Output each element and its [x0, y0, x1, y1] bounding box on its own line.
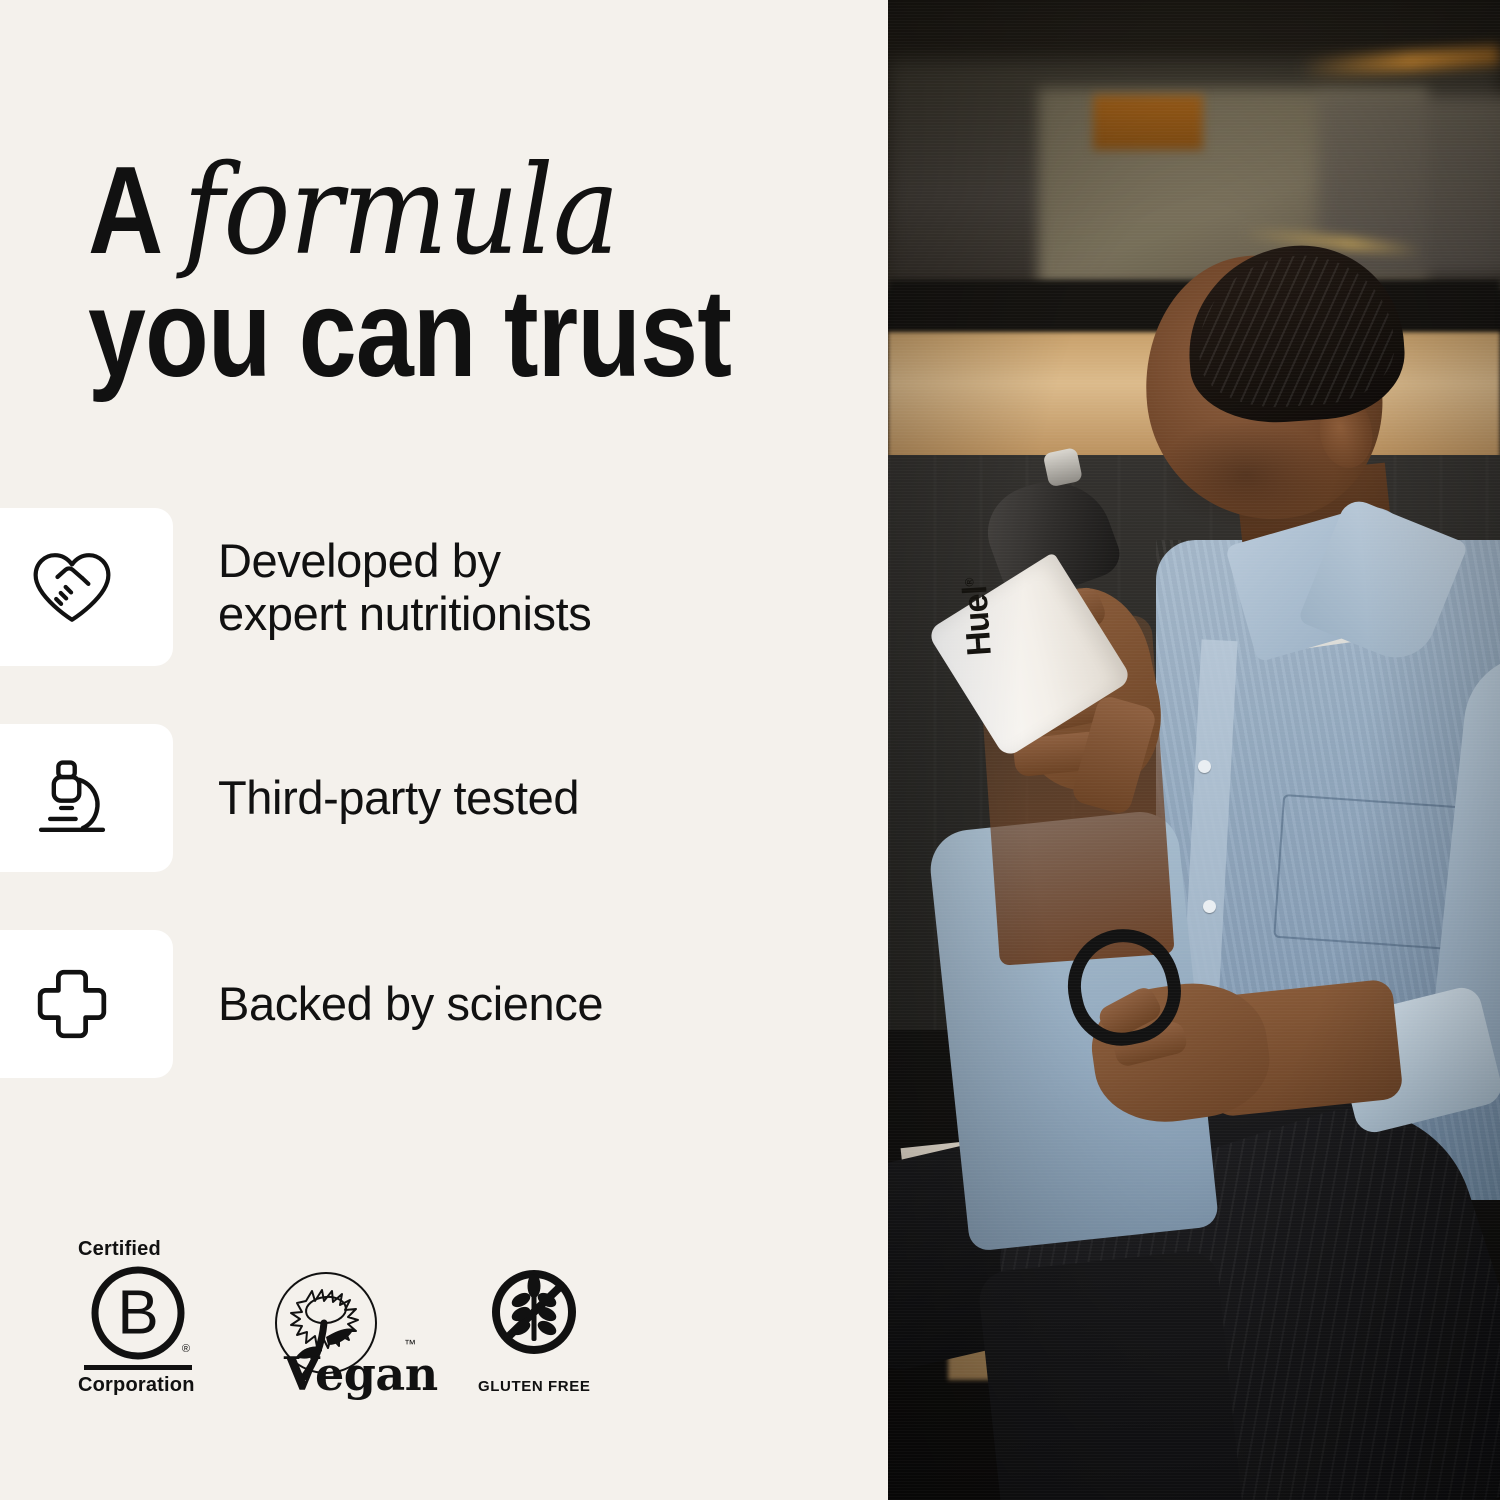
photo-shirt-button — [1203, 900, 1216, 913]
feature-list: Developed by expert nutritionists — [0, 508, 888, 1136]
feature-label-line-2: expert nutritionists — [218, 587, 591, 640]
feature-icon-card — [0, 724, 173, 872]
vegan-badge: Vegan ™ — [258, 1265, 418, 1395]
b-corp-divider — [84, 1365, 192, 1370]
photo-scene: Huel® — [888, 0, 1500, 1500]
feature-label-line-1: Backed by science — [218, 977, 603, 1030]
vegan-mark: Vegan ™ — [258, 1265, 418, 1395]
feature-label-line-1: Third-party tested — [218, 771, 579, 824]
photo-shirt-pocket — [1273, 794, 1462, 950]
photo-shin — [977, 1249, 1260, 1500]
feature-label-line-1: Developed by — [218, 534, 501, 587]
feature-row-developed-by-nutritionists: Developed by expert nutritionists — [0, 508, 888, 666]
medical-cross-icon — [32, 964, 112, 1044]
content-panel: Aformula you can trust — [0, 0, 888, 1500]
photo-person — [888, 0, 1500, 1500]
feature-icon-card — [0, 930, 173, 1078]
headline-word-formula: formula — [183, 150, 618, 273]
feature-label: Developed by expert nutritionists — [218, 534, 591, 640]
b-corp-badge: Certified B ® Corporation — [78, 1239, 198, 1395]
feature-row-backed-by-science: Backed by science — [0, 930, 888, 1078]
gluten-free-icon — [484, 1265, 584, 1370]
headline-line-2: you can trust — [88, 273, 743, 396]
b-corp-bottom-text: Corporation — [78, 1375, 195, 1395]
feature-label: Third-party tested — [218, 771, 579, 824]
certification-badges: Certified B ® Corporation — [78, 1239, 590, 1395]
photo-bottle-brand-text: Huel® — [956, 577, 1000, 657]
feature-row-third-party-tested: Third-party tested — [0, 724, 888, 872]
headline-line-1: Aformula — [88, 150, 868, 273]
registered-mark: ® — [182, 1343, 190, 1355]
gluten-free-label: GLUTEN FREE — [478, 1378, 590, 1395]
b-corp-top-text: Certified — [78, 1239, 161, 1259]
b-corp-mark: B ® — [88, 1263, 188, 1363]
feature-label: Backed by science — [218, 977, 603, 1030]
feature-icon-card — [0, 508, 173, 666]
gluten-free-badge: GLUTEN FREE — [478, 1265, 590, 1395]
promotional-banner: Aformula you can trust — [0, 0, 1500, 1500]
photo-face-shadow — [1156, 420, 1336, 530]
heart-handshake-icon — [28, 547, 116, 627]
page-title: Aformula you can trust — [88, 150, 868, 396]
microscope-icon — [32, 756, 112, 840]
headline-word-a: A — [88, 150, 162, 273]
brand-wordmark: Huel — [956, 585, 999, 657]
photo-shirt-button — [1198, 760, 1211, 773]
vegan-wordmark: Vegan — [284, 1351, 438, 1397]
svg-text:B: B — [117, 1279, 158, 1348]
brand-registered-mark: ® — [962, 578, 977, 587]
photo-bottle-cap — [1043, 447, 1083, 487]
lifestyle-photo: Huel® — [888, 0, 1500, 1500]
vegan-trademark: ™ — [404, 1337, 416, 1351]
